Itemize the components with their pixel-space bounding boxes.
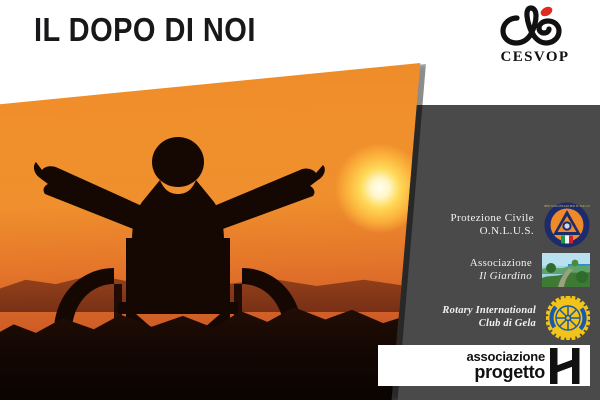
- progetto-h-line-2: progetto: [466, 363, 545, 381]
- page-title: IL DOPO DI NOI: [34, 11, 256, 49]
- partner-line-2: Il Giardino: [470, 270, 532, 283]
- letter-h-mark-icon: [548, 348, 582, 384]
- protezione-civile-emblem-icon: GRUPPO VOLONTARI PER IL SOCCORSO: [544, 202, 590, 248]
- partner-line-1: Protezione Civile: [451, 212, 534, 225]
- partner-line-1: Rotary International: [442, 305, 536, 318]
- cesvop-wordmark: CESVOP: [487, 49, 583, 66]
- progetto-h-wordmark: associazione progetto: [466, 350, 545, 381]
- partner-protezione-civile-label: Protezione Civile O.N.L.U.S.: [451, 212, 534, 239]
- partner-il-giardino: Associazione Il Giardino: [430, 248, 590, 292]
- progetto-h-logo: associazione progetto: [378, 345, 590, 386]
- partner-protezione-civile: Protezione Civile O.N.L.U.S. GRUPPO VOLO…: [430, 202, 590, 248]
- il-giardino-landscape-icon: [542, 253, 590, 287]
- rotary-wheel-icon: [546, 296, 590, 340]
- partner-il-giardino-label: Associazione Il Giardino: [470, 257, 532, 284]
- cesvop-logo: CESVOP: [487, 4, 583, 70]
- partner-rotary: Rotary International Club di Gela: [418, 296, 590, 340]
- partner-line-2: O.N.L.U.S.: [451, 225, 534, 238]
- hero-photo: [0, 60, 428, 400]
- cesvop-mark-icon: [487, 4, 583, 50]
- partner-line-2: Club di Gela: [442, 318, 536, 331]
- svg-text:GRUPPO VOLONTARI PER IL SOCCOR: GRUPPO VOLONTARI PER IL SOCCORSO: [544, 204, 590, 208]
- partner-rotary-label: Rotary International Club di Gela: [442, 305, 536, 331]
- partner-line-1: Associazione: [470, 257, 532, 270]
- poster-canvas: IL DOPO DI NOI CESVOP: [0, 0, 600, 400]
